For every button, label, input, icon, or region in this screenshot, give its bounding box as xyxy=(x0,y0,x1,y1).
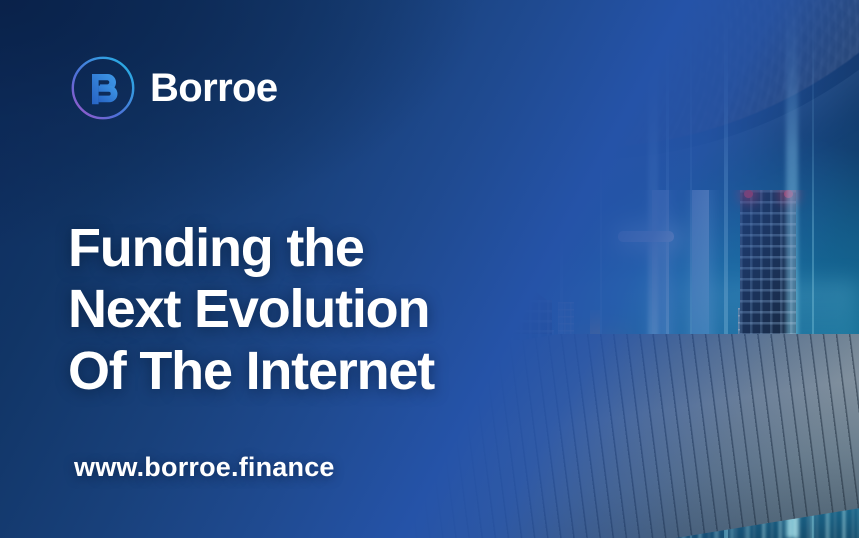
borroe-promo-banner: Borroe Funding the Next Evolution Of The… xyxy=(0,0,859,538)
headline-line-3: Of The Internet xyxy=(68,341,434,402)
brand-lockup[interactable]: Borroe xyxy=(70,55,278,121)
brand-name: Borroe xyxy=(150,68,278,108)
headline-line-2: Next Evolution xyxy=(68,279,434,340)
borroe-logo-icon xyxy=(70,55,136,121)
banner-content: Borroe Funding the Next Evolution Of The… xyxy=(0,0,859,538)
website-url[interactable]: www.borroe.finance xyxy=(74,452,335,483)
headline-line-1: Funding the xyxy=(68,218,434,279)
page-title: Funding the Next Evolution Of The Intern… xyxy=(68,218,434,402)
